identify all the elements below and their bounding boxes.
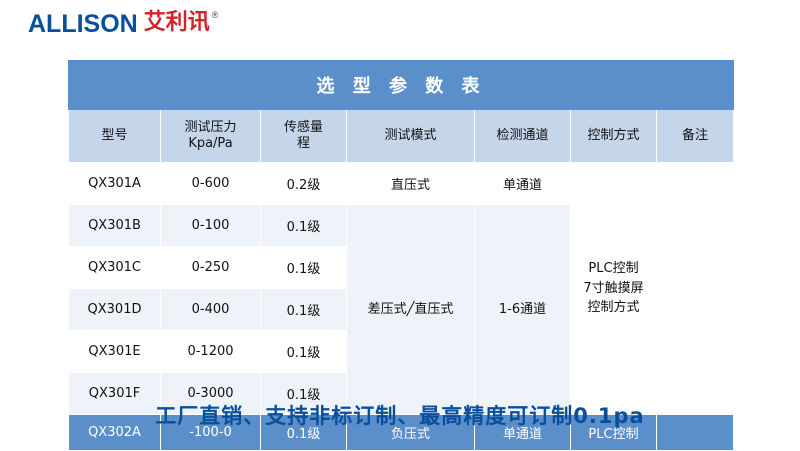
cell-range: 0.1级 bbox=[261, 205, 347, 247]
cell-model: QX301A bbox=[69, 163, 161, 205]
column-header-mode: 测试模式 bbox=[347, 110, 475, 163]
cell-model: QX301E bbox=[69, 331, 161, 373]
cell-channel-merged: 1-6通道 bbox=[475, 205, 571, 415]
column-header-pressure-line2: Kpa/Pa bbox=[162, 136, 259, 152]
cell-pressure: 0-600 bbox=[161, 163, 261, 205]
cell-mode: 直压式 bbox=[347, 163, 475, 205]
cell-control-merged: PLC控制 7寸触摸屏 控制方式 bbox=[571, 163, 657, 415]
column-header-range-line2: 程 bbox=[262, 136, 345, 152]
cell-range: 0.2级 bbox=[261, 163, 347, 205]
footer-slogan: 工厂直销、支持非标订制、最高精度可订制0.1pa bbox=[0, 400, 800, 430]
cell-range: 0.1级 bbox=[261, 247, 347, 289]
cell-range: 0.1级 bbox=[261, 331, 347, 373]
column-header-pressure: 测试压力 Kpa/Pa bbox=[161, 110, 261, 163]
table-title: 选 型 参 数 表 bbox=[69, 61, 734, 110]
control-line1: PLC控制 bbox=[572, 259, 655, 279]
control-line3: 控制方式 bbox=[572, 298, 655, 318]
cell-pressure: 0-1200 bbox=[161, 331, 261, 373]
brand-logo: ALLISON 艾利讯 ® bbox=[28, 12, 218, 37]
column-header-pressure-line1: 测试压力 bbox=[162, 120, 259, 136]
table-title-row: 选 型 参 数 表 bbox=[69, 61, 734, 110]
column-header-range-line1: 传感量 bbox=[262, 120, 345, 136]
column-header-control: 控制方式 bbox=[571, 110, 657, 163]
column-header-model: 型号 bbox=[69, 110, 161, 163]
cell-model: QX301C bbox=[69, 247, 161, 289]
column-header-channel: 检测通道 bbox=[475, 110, 571, 163]
cell-model: QX301D bbox=[69, 289, 161, 331]
table-row: QX301A 0-600 0.2级 直压式 单通道 PLC控制 7寸触摸屏 控制… bbox=[69, 163, 734, 205]
brand-name-cn: 艾利讯 bbox=[144, 12, 210, 34]
brand-name-en: ALLISON bbox=[28, 12, 138, 37]
table-header-row: 型号 测试压力 Kpa/Pa 传感量 程 测试模式 检测通道 控制方式 备注 bbox=[69, 110, 734, 163]
cell-remark-merged bbox=[657, 163, 734, 415]
cell-channel: 单通道 bbox=[475, 163, 571, 205]
cell-pressure: 0-400 bbox=[161, 289, 261, 331]
cell-mode-merged: 差压式╱直压式 bbox=[347, 205, 475, 415]
cell-pressure: 0-100 bbox=[161, 205, 261, 247]
cell-range: 0.1级 bbox=[261, 289, 347, 331]
spec-table: 选 型 参 数 表 型号 测试压力 Kpa/Pa 传感量 程 测试模式 检测通道… bbox=[68, 60, 734, 451]
trademark-icon: ® bbox=[212, 10, 219, 20]
column-header-remark: 备注 bbox=[657, 110, 734, 163]
control-line2: 7寸触摸屏 bbox=[572, 279, 655, 299]
cell-pressure: 0-250 bbox=[161, 247, 261, 289]
spec-table-container: 选 型 参 数 表 型号 测试压力 Kpa/Pa 传感量 程 测试模式 检测通道… bbox=[68, 60, 733, 451]
cell-model: QX301B bbox=[69, 205, 161, 247]
column-header-range: 传感量 程 bbox=[261, 110, 347, 163]
